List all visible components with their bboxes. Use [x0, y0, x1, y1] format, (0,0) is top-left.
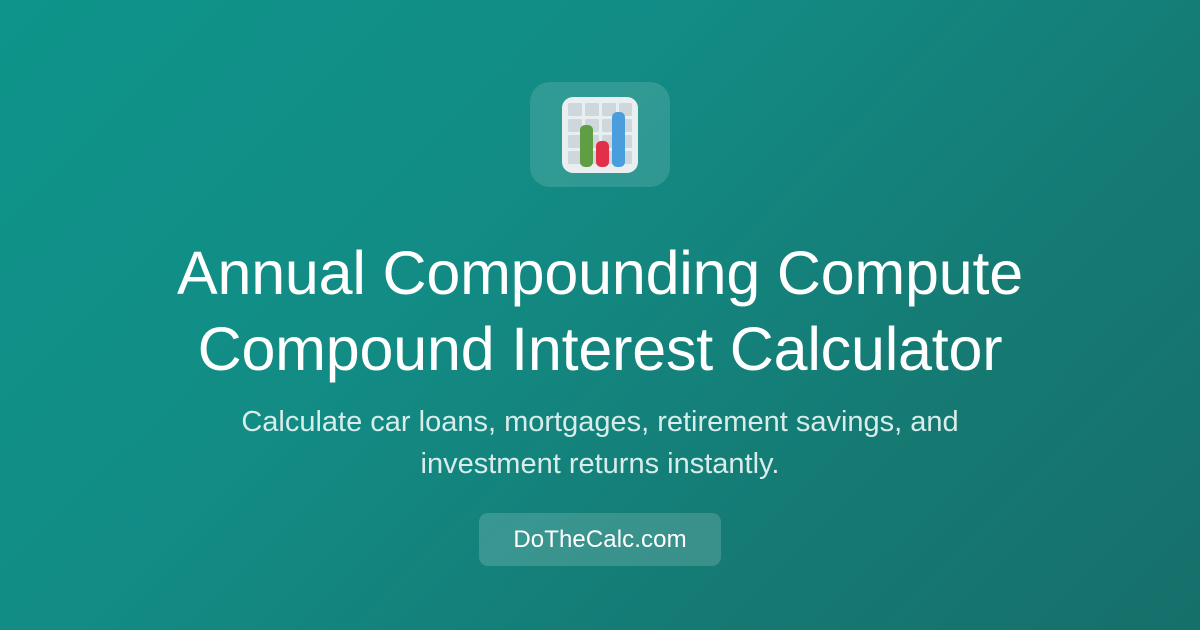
page-subtitle: Calculate car loans, mortgages, retireme…: [61, 401, 1138, 485]
page-subtitle-line-1: Calculate car loans, mortgages, retireme…: [241, 406, 958, 438]
page-title-line-2: Compound Interest Calculator: [198, 315, 1003, 383]
site-domain-badge[interactable]: DoTheCalc.com: [479, 513, 720, 566]
page-title: Annual Compounding Compute Compound Inte…: [117, 235, 1083, 387]
red-bar: [596, 141, 609, 167]
green-bar: [580, 125, 593, 167]
og-share-card: Annual Compounding Compute Compound Inte…: [0, 0, 1200, 630]
bar-chart-spreadsheet-icon: [562, 97, 638, 173]
blue-bar: [612, 112, 625, 167]
app-icon-tile: [530, 82, 670, 187]
page-title-line-1: Annual Compounding Compute: [177, 239, 1023, 307]
page-subtitle-line-2: investment returns instantly.: [421, 448, 780, 480]
